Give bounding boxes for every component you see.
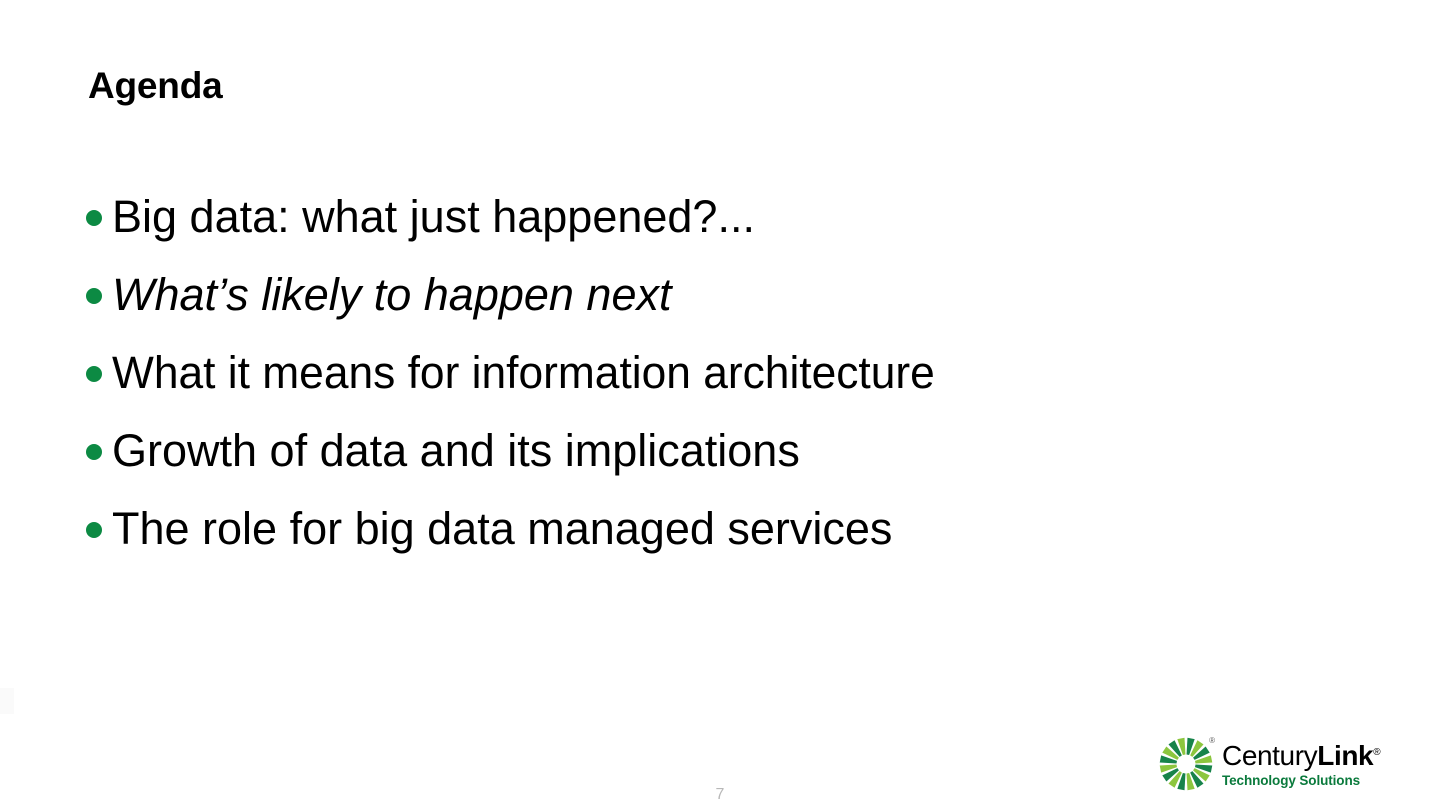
bullet-dot-icon: [86, 522, 102, 538]
list-item[interactable]: What it means for information architectu…: [86, 334, 1376, 412]
bullet-dot-icon: [86, 444, 102, 460]
bullet-dot-icon: [86, 366, 102, 382]
list-item-label: Big data: what just happened?...: [112, 193, 1376, 242]
logo-name: CenturyLink®: [1222, 742, 1426, 770]
list-item-label: What’s likely to happen next: [112, 271, 1376, 320]
agenda-bullet-list: Big data: what just happened?... What’s …: [86, 178, 1376, 568]
logo-name-century: Century: [1222, 740, 1317, 771]
list-item[interactable]: The role for big data managed services: [86, 490, 1376, 568]
list-item-label: Growth of data and its implications: [112, 427, 1376, 476]
centurylink-starburst-icon: ®: [1158, 736, 1214, 792]
logo-tagline: Technology Solutions: [1222, 773, 1426, 788]
registered-symbol: ®: [1373, 747, 1380, 758]
bullet-dot-icon: [86, 210, 102, 226]
logo-name-link: Link: [1317, 740, 1373, 771]
bullet-dot-icon: [86, 288, 102, 304]
list-item[interactable]: Growth of data and its implications: [86, 412, 1376, 490]
slide-canvas: Agenda Big data: what just happened?... …: [0, 0, 1440, 810]
centurylink-logo: ® CenturyLink® Technology Solutions: [1158, 735, 1426, 793]
list-item[interactable]: Big data: what just happened?...: [86, 178, 1376, 256]
scan-artifact: [0, 688, 14, 714]
list-item-label: What it means for information architectu…: [112, 349, 1357, 398]
page-title: Agenda: [88, 65, 1288, 108]
registered-mark-icon: ®: [1209, 737, 1215, 745]
list-item[interactable]: What’s likely to happen next: [86, 256, 1376, 334]
list-item-label: The role for big data managed services: [112, 505, 1376, 554]
logo-wordmark: CenturyLink® Technology Solutions: [1222, 740, 1426, 788]
